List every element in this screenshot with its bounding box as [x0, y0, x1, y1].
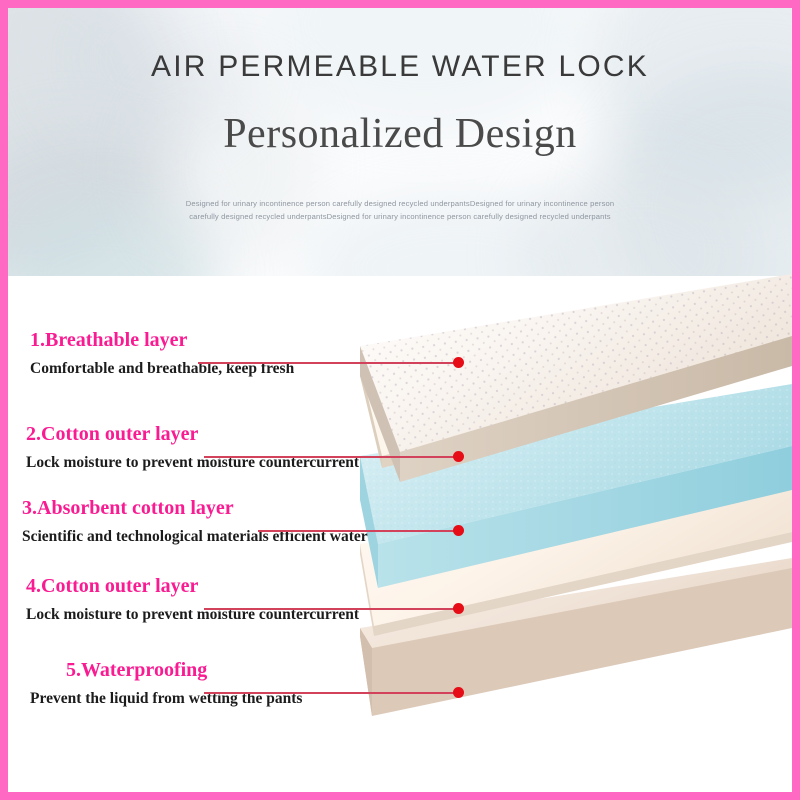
leader-line-3	[258, 530, 460, 532]
leader-line-2	[204, 456, 460, 458]
leader-line-4	[204, 608, 460, 610]
product-infographic-poster: AIR PERMEABLE WATER LOCK Personalized De…	[0, 0, 800, 800]
layer-4-heading: 4.Cotton outer layer	[26, 576, 496, 597]
layer-1-heading: 1.Breathable layer	[30, 330, 500, 351]
callout-layer-4: 4.Cotton outer layer Lock moisture to pr…	[26, 576, 496, 623]
marker-dot-5	[453, 687, 464, 698]
layer-5-heading: 5.Waterproofing	[66, 660, 536, 681]
layer-2-heading: 2.Cotton outer layer	[26, 424, 496, 445]
layer-4-description: Lock moisture to prevent moisture counte…	[26, 597, 496, 623]
marker-dot-4	[453, 603, 464, 614]
callout-group: 1.Breathable layer Comfortable and breat…	[8, 8, 792, 792]
layer-3-heading: 3.Absorbent cotton layer	[22, 498, 492, 519]
leader-line-1	[198, 362, 460, 364]
layer-3-description: Scientific and technological materials e…	[22, 519, 492, 545]
callout-layer-1: 1.Breathable layer Comfortable and breat…	[30, 330, 500, 377]
layer-2-description: Lock moisture to prevent moisture counte…	[26, 445, 496, 471]
marker-dot-3	[453, 525, 464, 536]
callout-layer-5: 5.Waterproofing Prevent the liquid from …	[66, 660, 536, 707]
layer-1-description: Comfortable and breathable, keep fresh	[30, 351, 500, 377]
marker-dot-1	[453, 357, 464, 368]
callout-layer-2: 2.Cotton outer layer Lock moisture to pr…	[26, 424, 496, 471]
marker-dot-2	[453, 451, 464, 462]
leader-line-5	[204, 692, 460, 694]
callout-layer-3: 3.Absorbent cotton layer Scientific and …	[22, 498, 492, 545]
